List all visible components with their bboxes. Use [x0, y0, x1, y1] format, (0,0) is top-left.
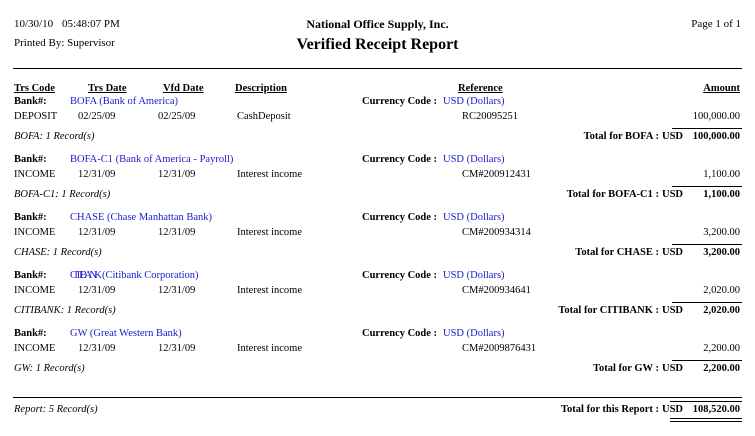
vfd-date-cell: 12/31/09: [158, 343, 195, 354]
vfd-date-cell: 12/31/09: [158, 285, 195, 296]
report-total-rule-bottom: [670, 418, 742, 419]
trs-code-cell: INCOME: [14, 227, 55, 238]
bank-header-row: Bank#:BOFA-C1 (Bank of America - Payroll…: [0, 154, 755, 169]
bank-label: Bank#:: [14, 154, 47, 165]
trs-code-cell: INCOME: [14, 285, 55, 296]
header-divider: [13, 68, 742, 69]
report-page: 10/30/10 05:48:07 PM Printed By: Supervi…: [0, 0, 755, 436]
bank-subtotal-amount: 1,100.00: [703, 189, 740, 200]
amount-cell: 2,020.00: [703, 285, 740, 296]
table-row[interactable]: DEPOSIT02/25/0902/25/09CashDepositRC2009…: [0, 111, 755, 127]
reference-cell: CM#200912431: [462, 169, 531, 180]
bank-subtotal-label: Total for CITIBANK :: [558, 305, 659, 316]
currency-code-label: Currency Code :: [362, 328, 437, 339]
vfd-date-cell: 02/25/09: [158, 111, 195, 122]
amount-cell: 2,200.00: [703, 343, 740, 354]
description-cell: Interest income: [237, 227, 302, 238]
bank-subtotal-label: Total for BOFA :: [584, 131, 659, 142]
bank-group: Bank#:GW (Great Western Bank)Currency Co…: [0, 328, 755, 379]
trs-date-cell: 02/25/09: [78, 111, 115, 122]
description-cell: Interest income: [237, 285, 302, 296]
bank-header-row: Bank#:CHASE (Chase Manhattan Bank)Curren…: [0, 212, 755, 227]
description-cell: Interest income: [237, 169, 302, 180]
bank-subtotal-currency: USD: [662, 247, 683, 258]
column-header-vfd-date: Vfd Date: [163, 83, 204, 94]
table-row[interactable]: INCOME12/31/0912/31/09Interest incomeCM#…: [0, 285, 755, 301]
bank-header-row: Bank#:BOFA (Bank of America)Currency Cod…: [0, 96, 755, 111]
bank-group: Bank#:BOFA-C1 (Bank of America - Payroll…: [0, 154, 755, 205]
currency-code-label: Currency Code :: [362, 96, 437, 107]
description-cell: Interest income: [237, 343, 302, 354]
bank-subtotal-currency: USD: [662, 131, 683, 142]
bank-group: Bank#:CHASE (Chase Manhattan Bank)Curren…: [0, 212, 755, 263]
currency-code-value[interactable]: USD (Dollars): [443, 270, 505, 281]
bank-record-count: CHASE: 1 Record(s): [14, 247, 102, 258]
bank-header-row: Bank#:CITIBANK (Citibank Corporation)Cur…: [0, 270, 755, 285]
description-cell: CashDeposit: [237, 111, 291, 122]
currency-code-value[interactable]: USD (Dollars): [443, 96, 505, 107]
bank-record-count: BOFA-C1: 1 Record(s): [14, 189, 110, 200]
bank-label: Bank#:: [14, 96, 47, 107]
currency-code-label: Currency Code :: [362, 154, 437, 165]
trs-date-cell: 12/31/09: [78, 285, 115, 296]
bank-record-count: BOFA: 1 Record(s): [14, 131, 94, 142]
currency-code-label: Currency Code :: [362, 212, 437, 223]
bank-record-count: CITIBANK: 1 Record(s): [14, 305, 116, 316]
column-header-description: Description: [235, 83, 287, 94]
bank-subtotal-row: BOFA: 1 Record(s)Total for BOFA :USD100,…: [0, 127, 755, 147]
bank-subtotal-row: BOFA-C1: 1 Record(s)Total for BOFA-C1 :U…: [0, 185, 755, 205]
reference-cell: CM#2009876431: [462, 343, 536, 354]
bank-subtotal-amount: 100,000.00: [693, 131, 740, 142]
bank-group: Bank#:BOFA (Bank of America)Currency Cod…: [0, 96, 755, 147]
bank-subtotal-label: Total for CHASE :: [575, 247, 659, 258]
reference-cell: CM#200934641: [462, 285, 531, 296]
bank-record-count: GW: 1 Record(s): [14, 363, 85, 374]
bank-header-row: Bank#:GW (Great Western Bank)Currency Co…: [0, 328, 755, 343]
bank-subtotal-amount: 2,200.00: [703, 363, 740, 374]
bank-name: (Citibank Corporation): [99, 270, 198, 281]
bank-code: CITIBANK: [70, 270, 99, 281]
trs-date-cell: 12/31/09: [78, 169, 115, 180]
bank-subtotal-label: Total for GW :: [593, 363, 659, 374]
trs-code-cell: DEPOSIT: [14, 111, 57, 122]
bank-subtotal-row: CITIBANK: 1 Record(s)Total for CITIBANK …: [0, 301, 755, 321]
bank-subtotal-amount: 2,020.00: [703, 305, 740, 316]
bank-value[interactable]: BOFA-C1 (Bank of America - Payroll): [70, 154, 233, 165]
column-header-reference: Reference: [458, 83, 503, 94]
trs-code-cell: INCOME: [14, 343, 55, 354]
bank-value[interactable]: CITIBANK (Citibank Corporation): [70, 270, 199, 281]
amount-cell: 1,100.00: [703, 169, 740, 180]
vfd-date-cell: 12/31/09: [158, 227, 195, 238]
subtotal-rule: [672, 360, 742, 361]
bank-subtotal-row: CHASE: 1 Record(s)Total for CHASE :USD3,…: [0, 243, 755, 263]
subtotal-rule: [672, 302, 742, 303]
report-total-rule-bottom-2: [670, 421, 742, 422]
bank-subtotal-label: Total for BOFA-C1 :: [567, 189, 659, 200]
report-total-label: Total for this Report :: [561, 404, 659, 415]
table-row[interactable]: INCOME12/31/0912/31/09Interest incomeCM#…: [0, 169, 755, 185]
trs-date-cell: 12/31/09: [78, 343, 115, 354]
currency-code-value[interactable]: USD (Dollars): [443, 212, 505, 223]
subtotal-rule: [672, 244, 742, 245]
currency-code-value[interactable]: USD (Dollars): [443, 328, 505, 339]
amount-cell: 100,000.00: [693, 111, 740, 122]
footer-divider: [13, 397, 742, 398]
currency-code-value[interactable]: USD (Dollars): [443, 154, 505, 165]
subtotal-rule: [672, 128, 742, 129]
bank-value[interactable]: CHASE (Chase Manhattan Bank): [70, 212, 212, 223]
vfd-date-cell: 12/31/09: [158, 169, 195, 180]
reference-cell: CM#200934314: [462, 227, 531, 238]
bank-label: Bank#:: [14, 212, 47, 223]
bank-subtotal-currency: USD: [662, 305, 683, 316]
page-number: Page 1 of 1: [691, 18, 741, 30]
bank-label: Bank#:: [14, 328, 47, 339]
trs-code-cell: INCOME: [14, 169, 55, 180]
reference-cell: RC20095251: [462, 111, 518, 122]
trs-date-cell: 12/31/09: [78, 227, 115, 238]
bank-subtotal-currency: USD: [662, 363, 683, 374]
column-header-amount: Amount: [703, 83, 740, 94]
table-row[interactable]: INCOME12/31/0912/31/09Interest incomeCM#…: [0, 343, 755, 359]
report-total-rule-top: [670, 401, 742, 402]
bank-label: Bank#:: [14, 270, 47, 281]
report-record-count: Report: 5 Record(s): [14, 404, 98, 415]
amount-cell: 3,200.00: [703, 227, 740, 238]
column-header-trs-date: Trs Date: [88, 83, 127, 94]
report-total-amount: 108,520.00: [693, 404, 740, 415]
bank-subtotal-row: GW: 1 Record(s)Total for GW :USD2,200.00: [0, 359, 755, 379]
table-row[interactable]: INCOME12/31/0912/31/09Interest incomeCM#…: [0, 227, 755, 243]
report-total-currency: USD: [662, 404, 683, 415]
bank-group: Bank#:CITIBANK (Citibank Corporation)Cur…: [0, 270, 755, 321]
page-title: Verified Receipt Report: [0, 36, 755, 54]
bank-value[interactable]: GW (Great Western Bank): [70, 328, 182, 339]
company-name: National Office Supply, Inc.: [0, 17, 755, 32]
bank-subtotal-amount: 3,200.00: [703, 247, 740, 258]
bank-value[interactable]: BOFA (Bank of America): [70, 96, 178, 107]
subtotal-rule: [672, 186, 742, 187]
column-header-trs-code: Trs Code: [14, 83, 55, 94]
currency-code-label: Currency Code :: [362, 270, 437, 281]
bank-subtotal-currency: USD: [662, 189, 683, 200]
